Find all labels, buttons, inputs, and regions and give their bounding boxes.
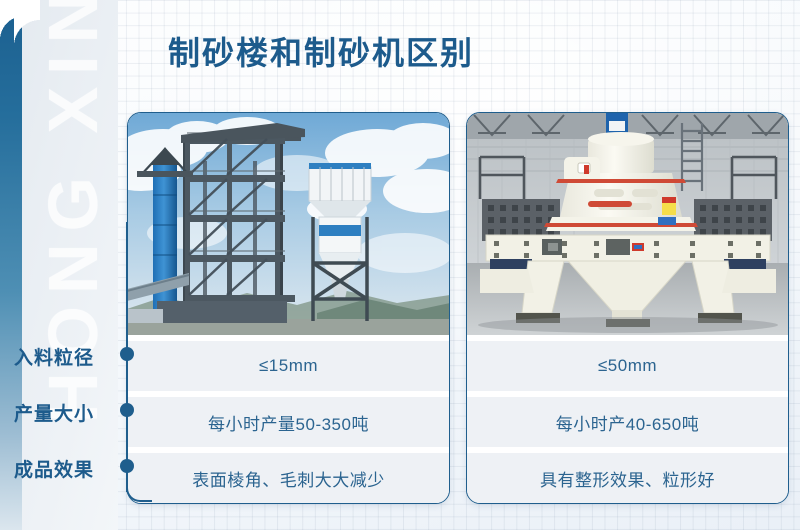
page-title: 制砂楼和制砂机区别 bbox=[168, 28, 474, 74]
value-capacity-right: 每小时产40-650吨 bbox=[467, 397, 788, 447]
vsi-crusher-illustration bbox=[467, 113, 788, 335]
brand-band: HONG XING bbox=[0, 0, 118, 530]
comparison-card-right: ≤50mm 每小时产40-650吨 具有整形效果、粒形好 bbox=[466, 112, 789, 504]
value-capacity-left: 每小时产量50-350吨 bbox=[128, 397, 449, 447]
photo-sand-making-tower bbox=[128, 113, 449, 335]
value-feed-size-left: ≤15mm bbox=[128, 341, 449, 391]
rail-dot-capacity bbox=[120, 403, 134, 417]
photo-sand-making-machine bbox=[467, 113, 788, 335]
value-rows-left: ≤15mm 每小时产量50-350吨 表面棱角、毛刺大大减少 bbox=[128, 335, 449, 503]
rail-dot-product bbox=[120, 459, 134, 473]
tower-illustration bbox=[128, 113, 449, 335]
comparison-card-left: ≤15mm 每小时产量50-350吨 表面棱角、毛刺大大减少 bbox=[127, 112, 450, 504]
row-label-feed-size: 入料粒径 bbox=[14, 343, 114, 370]
row-label-capacity: 产量大小 bbox=[14, 399, 114, 426]
row-label-product: 成品效果 bbox=[14, 455, 114, 482]
value-rows-right: ≤50mm 每小时产40-650吨 具有整形效果、粒形好 bbox=[467, 335, 788, 503]
value-feed-size-right: ≤50mm bbox=[467, 341, 788, 391]
rail-dot-feed-size bbox=[120, 347, 134, 361]
value-product-right: 具有整形效果、粒形好 bbox=[467, 453, 788, 503]
comparison-infographic: HONG XING 制砂楼和制砂机区别 bbox=[0, 0, 800, 530]
connector-rail-foot bbox=[126, 476, 152, 502]
brand-edge-stripe bbox=[0, 0, 22, 530]
value-product-left: 表面棱角、毛刺大大减少 bbox=[128, 453, 449, 503]
